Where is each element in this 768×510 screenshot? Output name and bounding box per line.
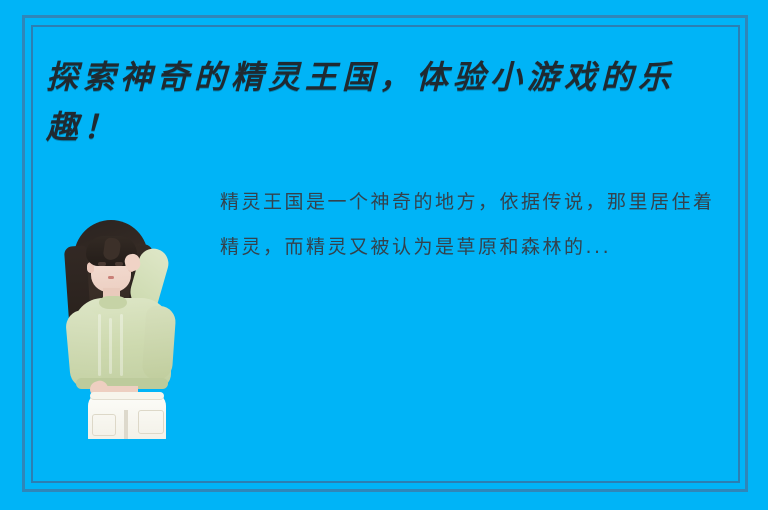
poster-headline: 探索神奇的精灵王国，体验小游戏的乐趣！ <box>46 52 736 152</box>
pants-waistband <box>90 392 164 400</box>
poster-canvas: 探索神奇的精灵王国，体验小游戏的乐趣！ 精灵王国是一个神奇的地方，依据传说，那里… <box>0 0 768 510</box>
mouth <box>108 276 114 279</box>
character-illustration <box>46 218 196 439</box>
poster-body-text: 精灵王国是一个神奇的地方，依据传说，那里居住着精灵，而精灵又被认为是草原和森林的… <box>220 180 732 270</box>
knit-cable-1 <box>98 314 101 376</box>
pants-pocket-right <box>138 410 164 434</box>
sweater-collar <box>99 296 127 309</box>
pants-center-seam <box>124 410 128 439</box>
sleeve-right <box>141 305 176 381</box>
eye-right <box>115 262 123 266</box>
knit-cable-2 <box>120 314 123 376</box>
knit-cable-3 <box>109 318 112 374</box>
eye-left <box>98 262 106 266</box>
pants-pocket-left <box>92 414 116 436</box>
